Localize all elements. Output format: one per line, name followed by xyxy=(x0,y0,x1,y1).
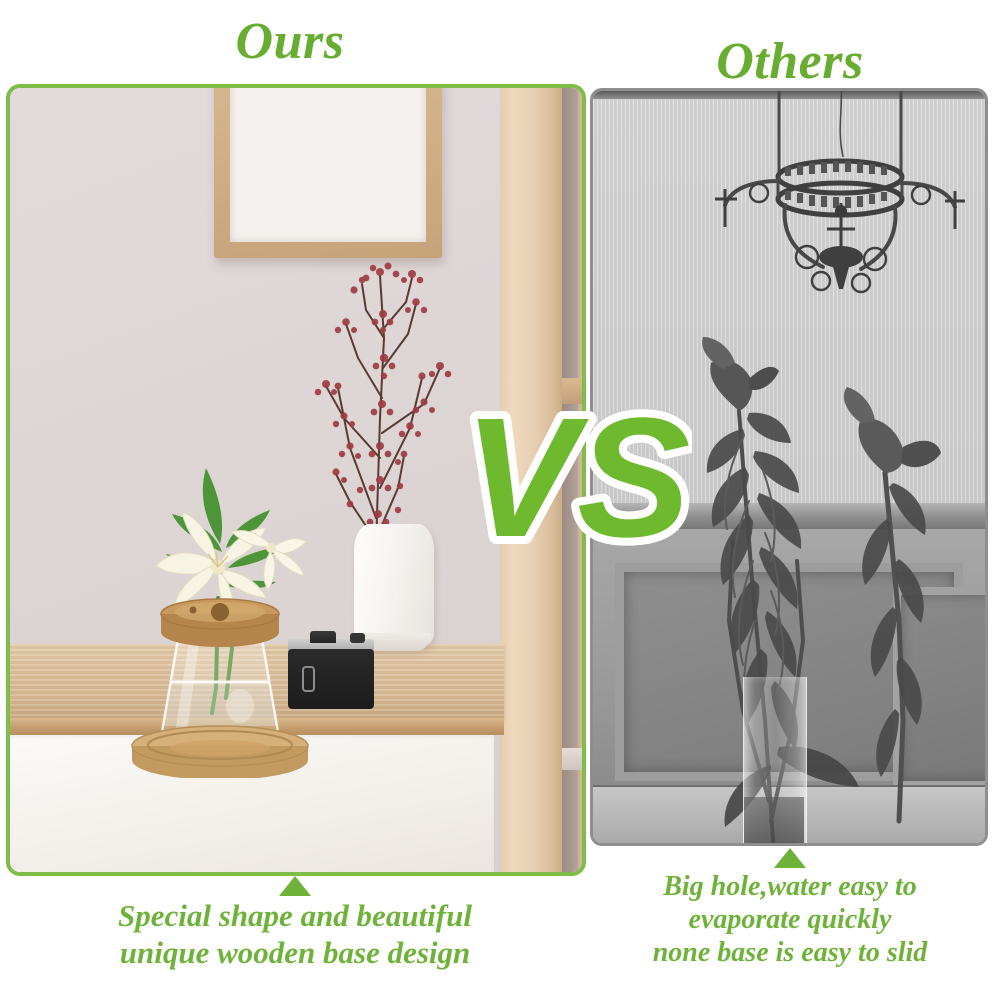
left-caption-block: Special shape and beautiful unique woode… xyxy=(10,876,580,971)
right-panel-title: Others xyxy=(590,32,990,91)
left-panel-title: Ours xyxy=(0,12,580,71)
background-shelf-upper xyxy=(562,378,586,404)
right-caption-line-3: none base is easy to slid xyxy=(590,936,990,969)
vase-water-level xyxy=(744,797,804,846)
ours-product-photo xyxy=(6,84,586,876)
ours-glass-vase-product xyxy=(120,448,330,778)
wooden-door-column xyxy=(500,88,562,872)
left-caption-line-1: Special shape and beautiful xyxy=(10,898,580,935)
right-caption-block: Big hole,water easy to evaporate quickly… xyxy=(590,848,990,969)
white-ceramic-vase xyxy=(354,524,434,650)
camera-dial xyxy=(350,633,365,643)
others-product-photo xyxy=(590,88,988,846)
right-caption-line-1: Big hole,water easy to xyxy=(590,870,990,903)
up-triangle-icon-left xyxy=(279,876,311,896)
comparison-infographic: Ours Others xyxy=(0,0,1000,1000)
up-triangle-icon-right xyxy=(774,848,806,868)
left-caption-line-2: unique wooden base design xyxy=(10,935,580,972)
right-caption-line-2: evaporate quickly xyxy=(590,903,990,936)
background-shelf-lower xyxy=(562,748,586,770)
